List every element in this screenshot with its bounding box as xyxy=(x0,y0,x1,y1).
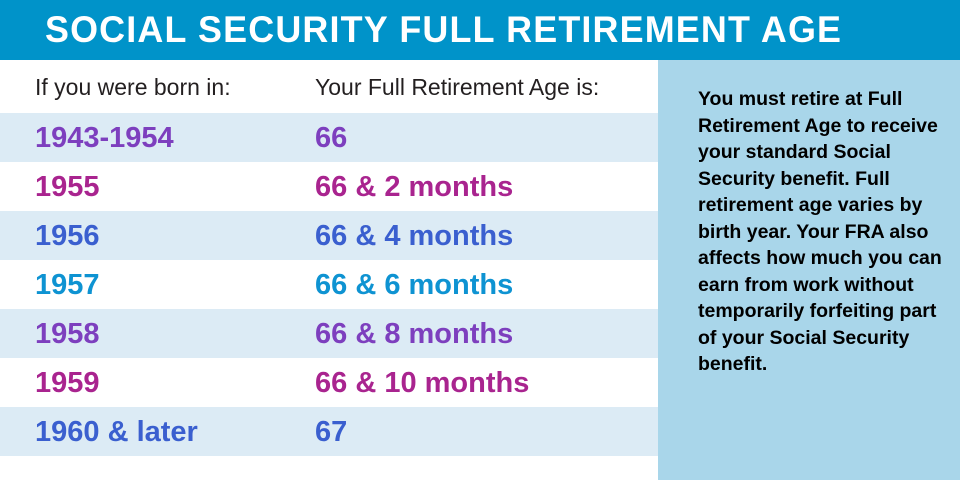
retirement-age-table: If you were born in: Your Full Retiremen… xyxy=(0,60,658,480)
cell-retirement-age: 66 & 10 months xyxy=(315,365,529,401)
cell-retirement-age: 66 & 2 months xyxy=(315,169,513,205)
cell-birth-year: 1960 & later xyxy=(35,414,198,450)
cell-birth-year: 1943-1954 xyxy=(35,120,174,156)
cell-retirement-age: 67 xyxy=(315,414,347,450)
column-header-retirement-age: Your Full Retirement Age is: xyxy=(315,73,599,101)
table-row: 1960 & later67 xyxy=(0,407,658,456)
table-body: 1943-195466195566 & 2 months195666 & 4 m… xyxy=(0,113,658,456)
body-area: If you were born in: Your Full Retiremen… xyxy=(0,60,960,480)
cell-birth-year: 1957 xyxy=(35,267,100,303)
title-band: SOCIAL SECURITY FULL RETIREMENT AGE xyxy=(0,0,960,60)
cell-birth-year: 1956 xyxy=(35,218,100,254)
table-row: 195966 & 10 months xyxy=(0,358,658,407)
table-row: 1943-195466 xyxy=(0,113,658,162)
page-title: SOCIAL SECURITY FULL RETIREMENT AGE xyxy=(45,8,842,52)
table-row: 195666 & 4 months xyxy=(0,211,658,260)
cell-birth-year: 1959 xyxy=(35,365,100,401)
cell-birth-year: 1958 xyxy=(35,316,100,352)
cell-retirement-age: 66 & 6 months xyxy=(315,267,513,303)
sidebar-panel: You must retire at Full Retirement Age t… xyxy=(658,60,960,480)
cell-retirement-age: 66 & 8 months xyxy=(315,316,513,352)
infographic-root: SOCIAL SECURITY FULL RETIREMENT AGE If y… xyxy=(0,0,960,480)
table-row: 195566 & 2 months xyxy=(0,162,658,211)
column-header-birth-year: If you were born in: xyxy=(35,73,231,101)
table-row: 195866 & 8 months xyxy=(0,309,658,358)
cell-birth-year: 1955 xyxy=(35,169,100,205)
cell-retirement-age: 66 xyxy=(315,120,347,156)
sidebar-body-text: You must retire at Full Retirement Age t… xyxy=(698,86,943,378)
cell-retirement-age: 66 & 4 months xyxy=(315,218,513,254)
table-row: 195766 & 6 months xyxy=(0,260,658,309)
table-header-row: If you were born in: Your Full Retiremen… xyxy=(0,60,658,113)
